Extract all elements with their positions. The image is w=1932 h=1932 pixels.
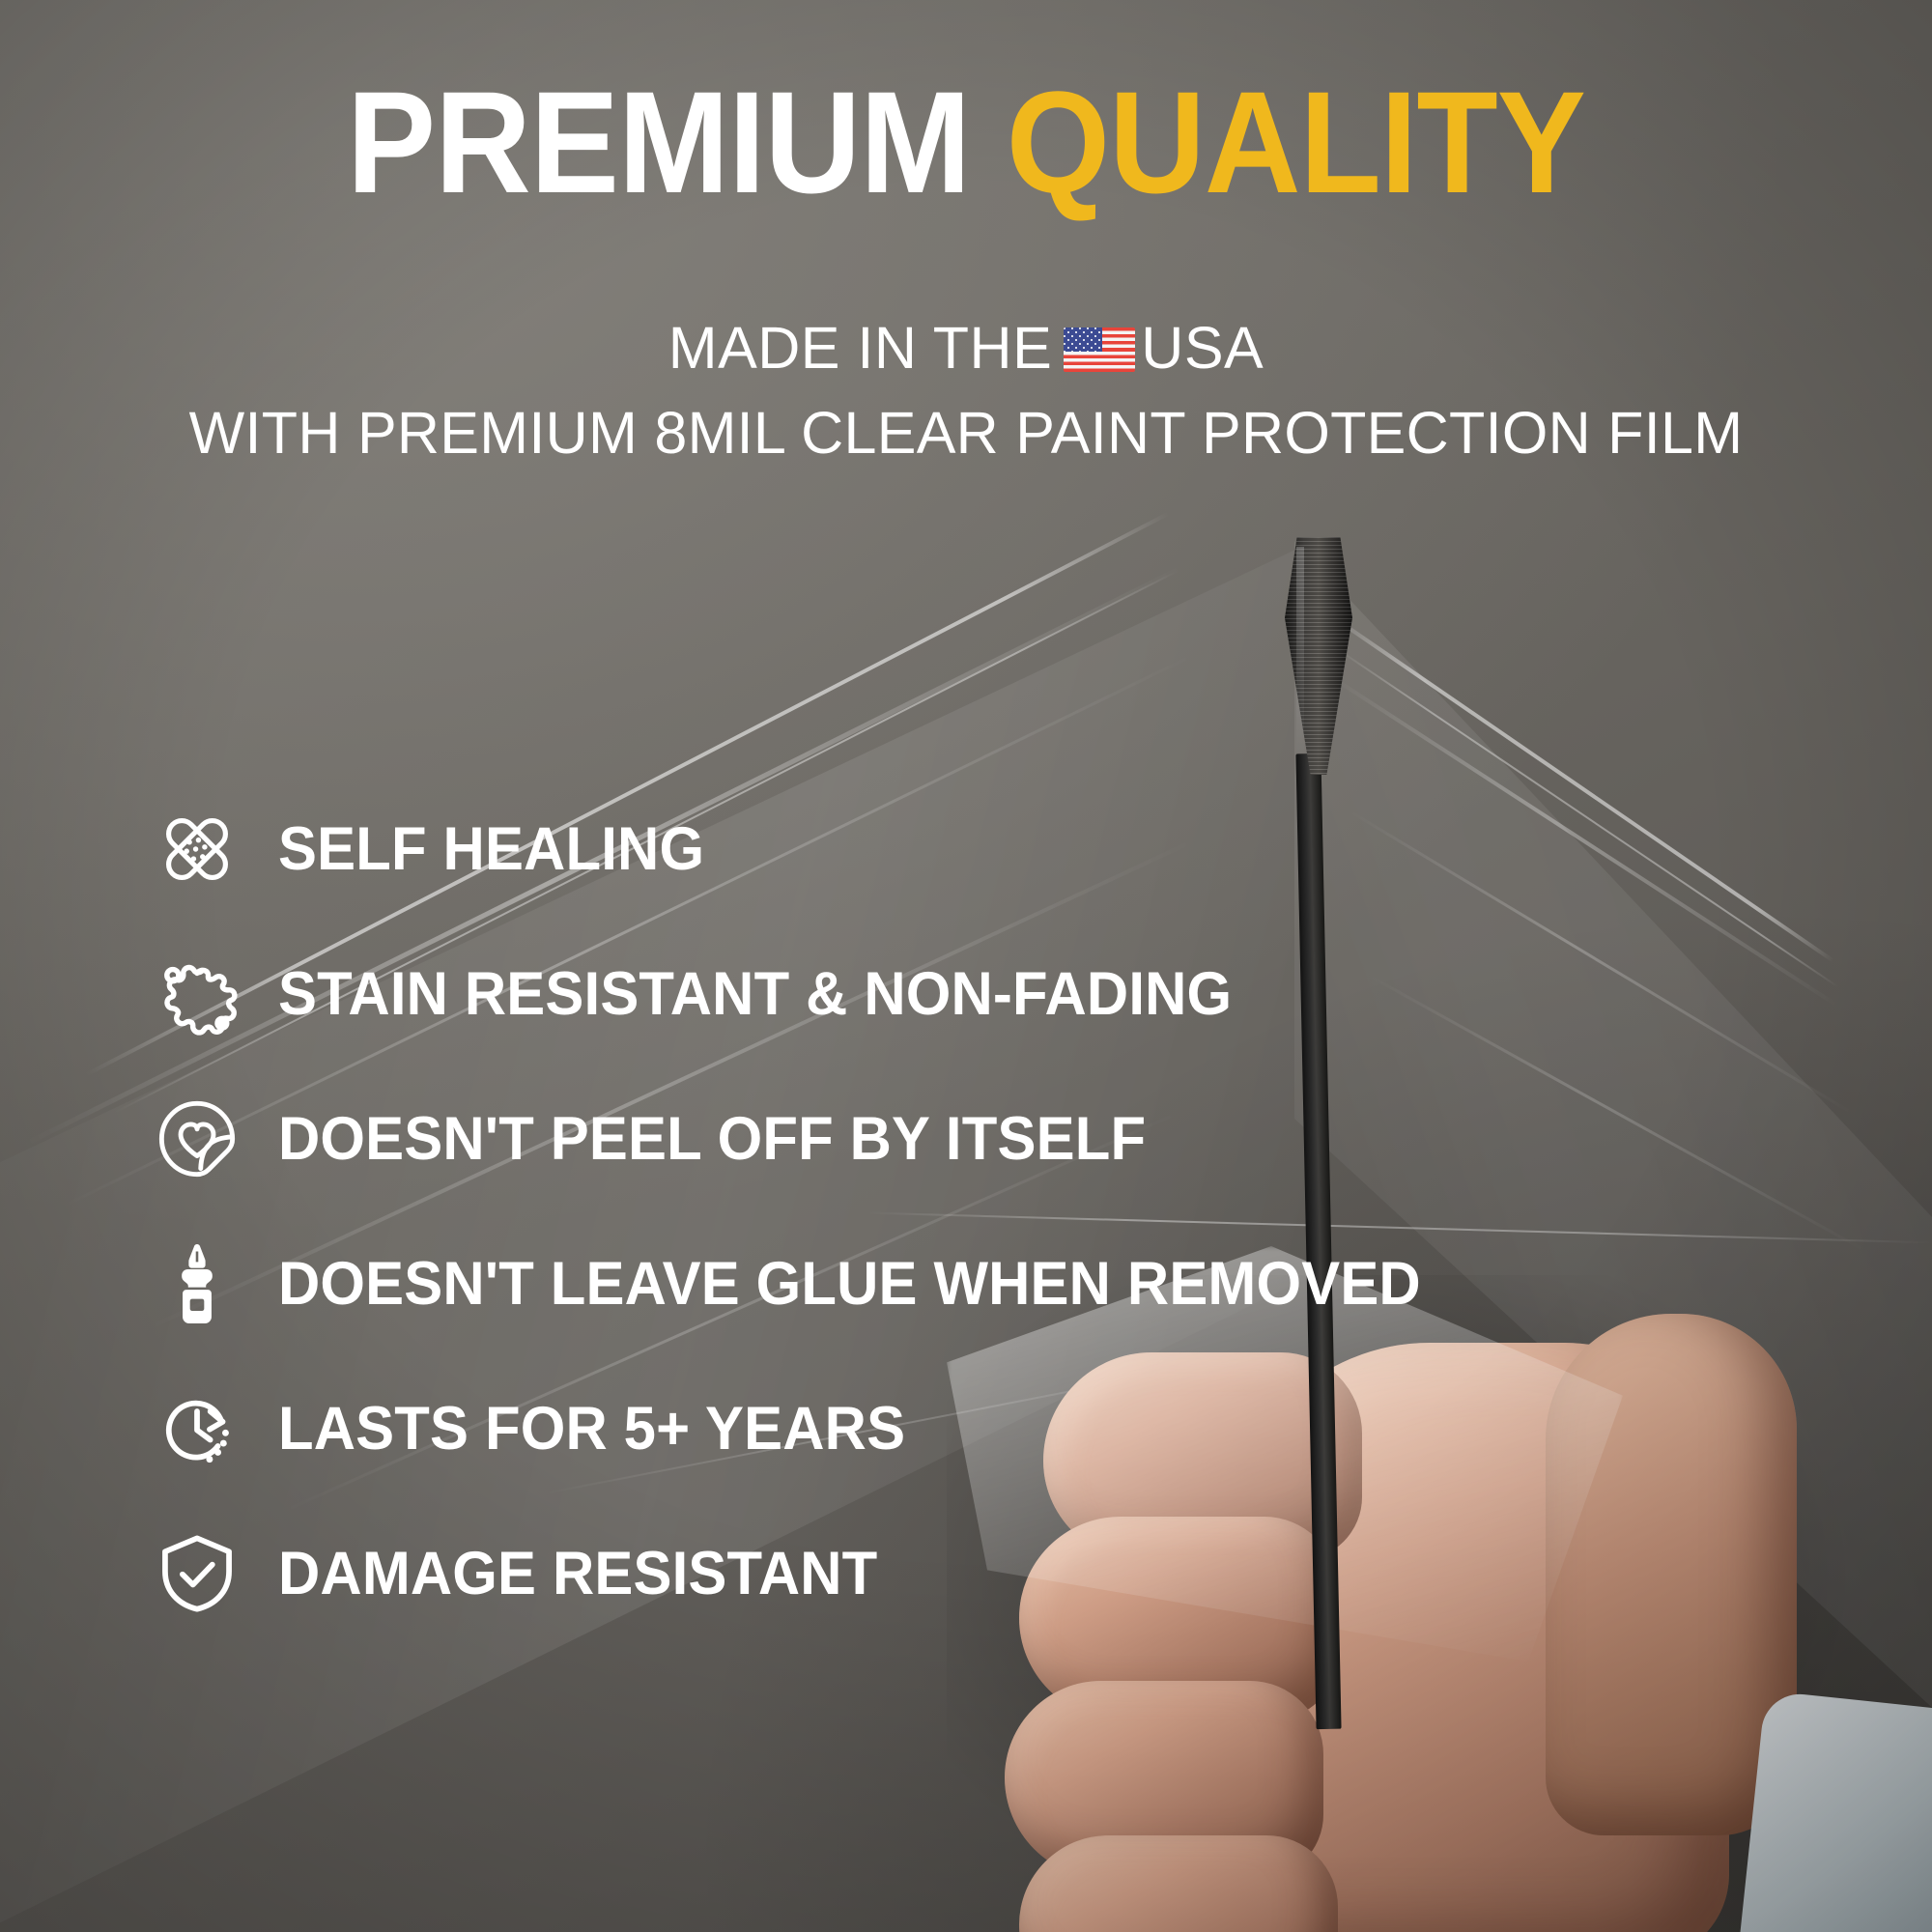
peeling-sticker-heart-icon [145, 1087, 249, 1191]
feature-label: DAMAGE RESISTANT [278, 1539, 877, 1608]
us-flag-icon [1064, 327, 1135, 372]
subtitle-film-spec: WITH PREMIUM 8MIL CLEAR PAINT PROTECTION… [0, 394, 1932, 467]
subtitle-made-in-usa: MADE IN THEUSA [0, 309, 1932, 382]
page-title: PREMIUM QUALITY [77, 70, 1855, 214]
feature-item-no-glue: DOESN'T LEAVE GLUE WHEN REMOVED [145, 1227, 1787, 1341]
paint-splat-icon [145, 942, 249, 1046]
feature-label: SELF HEALING [278, 814, 704, 884]
feature-list: SELF HEALING STAIN RESISTANT & NON-FADIN… [145, 792, 1787, 1662]
feature-item-self-healing: SELF HEALING [145, 792, 1787, 906]
shield-check-icon [145, 1521, 249, 1626]
feature-item-no-peel: DOESN'T PEEL OFF BY ITSELF [145, 1082, 1787, 1196]
subtitle-usa-text: USA [1141, 314, 1264, 382]
feature-label: LASTS FOR 5+ YEARS [278, 1394, 905, 1463]
feature-item-damage-resistant: DAMAGE RESISTANT [145, 1517, 1787, 1631]
subtitle-made-in-the-text: MADE IN THE [668, 314, 1053, 382]
glue-bottle-icon [145, 1232, 249, 1336]
feature-label: DOESN'T PEEL OFF BY ITSELF [278, 1104, 1146, 1174]
crossed-bandages-icon [145, 797, 249, 901]
marketing-overlay: PREMIUM QUALITY MADE IN THEUSA WITH PREM… [0, 0, 1932, 1932]
feature-label: STAIN RESISTANT & NON-FADING [278, 959, 1232, 1029]
headline-premium: PREMIUM [347, 61, 970, 223]
headline-quality: QUALITY [1007, 61, 1585, 223]
feature-label: DOESN'T LEAVE GLUE WHEN REMOVED [278, 1249, 1421, 1319]
clock-arrow-icon [145, 1377, 249, 1481]
subtitle-film-spec-text: WITH PREMIUM 8MIL CLEAR PAINT PROTECTION… [189, 399, 1744, 467]
feature-item-stain-resistant: STAIN RESISTANT & NON-FADING [145, 937, 1787, 1051]
feature-item-longevity: LASTS FOR 5+ YEARS [145, 1372, 1787, 1486]
